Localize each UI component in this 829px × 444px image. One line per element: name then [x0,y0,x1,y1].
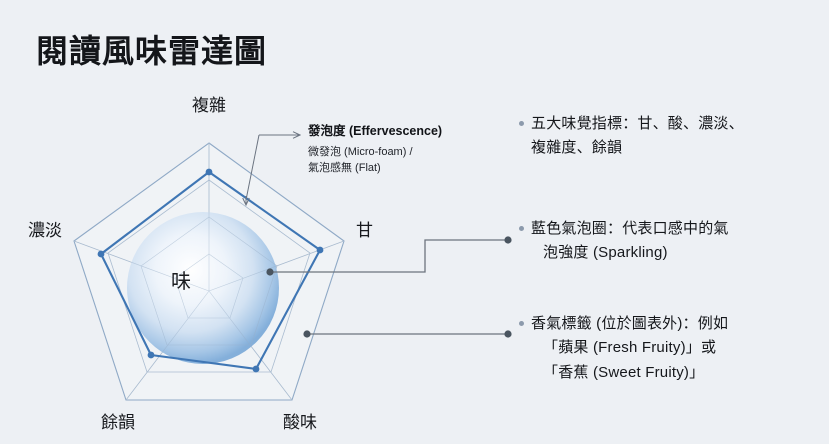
bullet-text: 藍色氣泡圈：代表口感中的氣 泡強度 (Sparkling) [531,217,819,266]
callout-subtext-line1: 微發泡 (Micro-foam) / [308,146,413,158]
bullet-3-line-2: 「蘋果 (Fresh Fruity)」或 [531,336,819,360]
list-item: 香氣標籤 (位於圖表外)：例如 「蘋果 (Fresh Fruity)」或 「香蕉… [519,312,819,385]
bullet-3-line-3: 「香蕉 (Sweet Fruity)」 [531,361,819,385]
callout-subtext-line2: 氣泡感無 (Flat) [308,162,381,174]
radar-label-right: 甘 [356,221,373,240]
bullet-2-line-2: 泡強度 (Sparkling) [531,241,819,265]
radar-center-label: 味 [171,270,191,293]
radar-label-left: 濃淡 [28,221,62,240]
bullet-text: 香氣標籤 (位於圖表外)：例如 「蘋果 (Fresh Fruity)」或 「香蕉… [531,312,819,385]
list-item: 藍色氣泡圈：代表口感中的氣 泡強度 (Sparkling) [519,217,819,266]
sparkling-sphere-overlay [127,212,279,364]
callout-subtext: 微發泡 (Micro-foam) / 氣泡感無 (Flat) [308,145,508,176]
bullet-1-line-2: 複雜度、餘韻 [531,136,819,160]
radar-label-bottom-left: 餘韻 [101,413,135,430]
radar-label-bottom-right: 酸味 [283,413,317,430]
bullet-dot-icon [519,121,524,126]
radar-label-top: 複雜 [192,96,226,115]
bullet-text: 五大味覺指標：甘、酸、濃淡、 複雜度、餘韻 [531,112,819,161]
effervescence-callout: 發泡度 (Effervescence) 微發泡 (Micro-foam) / 氣… [308,124,508,176]
list-item: 五大味覺指標：甘、酸、濃淡、 複雜度、餘韻 [519,112,819,161]
bullet-dot-icon [519,226,524,231]
bullet-1-line-1: 五大味覺指標：甘、酸、濃淡、 [531,112,819,136]
page-title: 閱讀風味雷達圖 [36,26,267,72]
bullet-3-line-1: 香氣標籤 (位於圖表外)：例如 [531,312,819,336]
bullet-2-line-1: 藍色氣泡圈：代表口感中的氣 [531,217,819,241]
bullet-dot-icon [519,321,524,326]
callout-title: 發泡度 (Effervescence) [308,124,508,139]
